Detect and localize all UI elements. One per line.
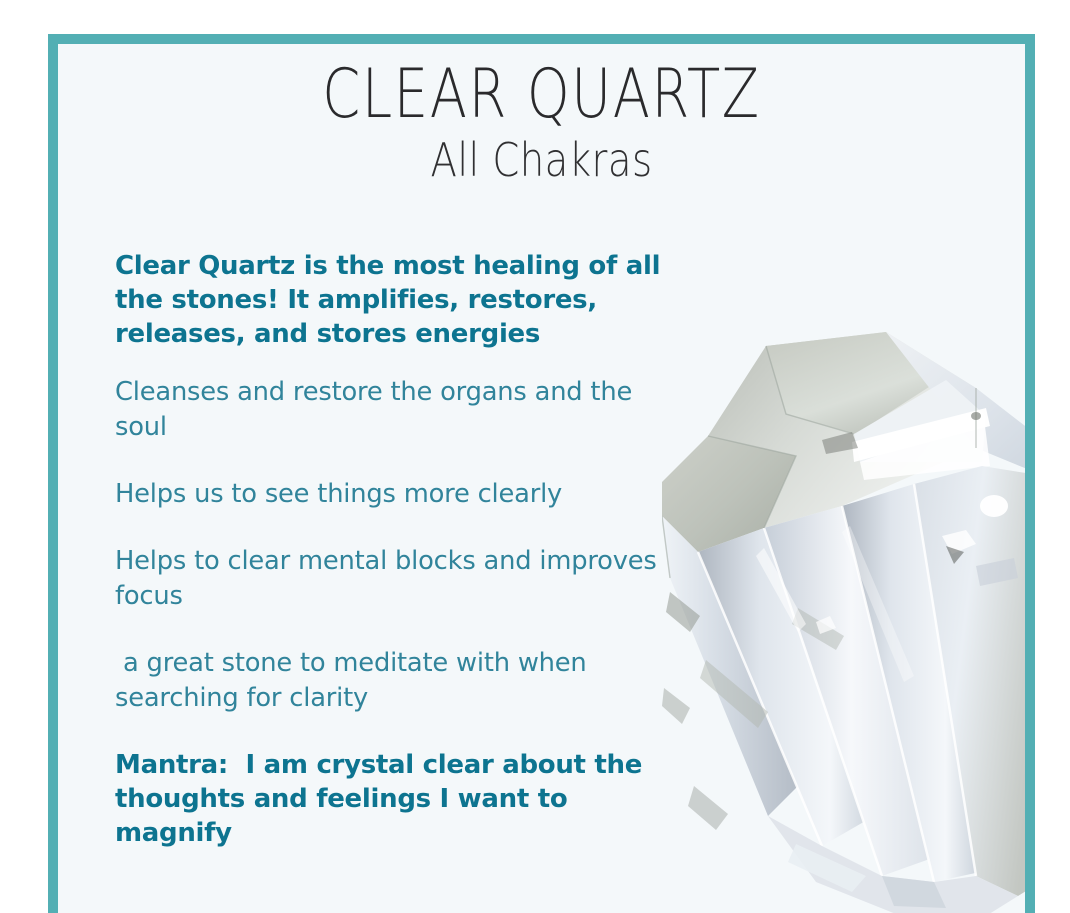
page-subtitle: All Chakras xyxy=(135,134,947,186)
description-list: Clear Quartz is the most healing of all … xyxy=(115,249,685,850)
paragraph-cleanses-organs: Cleanses and restore the organs and the … xyxy=(115,375,679,445)
paragraph-meditation: a great stone to meditate with when sear… xyxy=(115,646,679,716)
crystal-photo xyxy=(646,316,1035,913)
paragraph-see-clearly: Helps us to see things more clearly xyxy=(115,477,679,512)
quartz-info-card: CLEAR QUARTZ All Chakras xyxy=(48,34,1035,913)
card-header: CLEAR QUARTZ All Chakras xyxy=(58,58,1025,186)
poster-page: CLEAR QUARTZ All Chakras xyxy=(0,0,1070,913)
paragraph-mental-blocks: Helps to clear mental blocks and improve… xyxy=(115,544,679,614)
paragraph-mantra: Mantra: I am crystal clear about the tho… xyxy=(115,748,685,850)
paragraph-healing-intro: Clear Quartz is the most healing of all … xyxy=(115,249,685,351)
page-title: CLEAR QUARTZ xyxy=(155,58,929,132)
